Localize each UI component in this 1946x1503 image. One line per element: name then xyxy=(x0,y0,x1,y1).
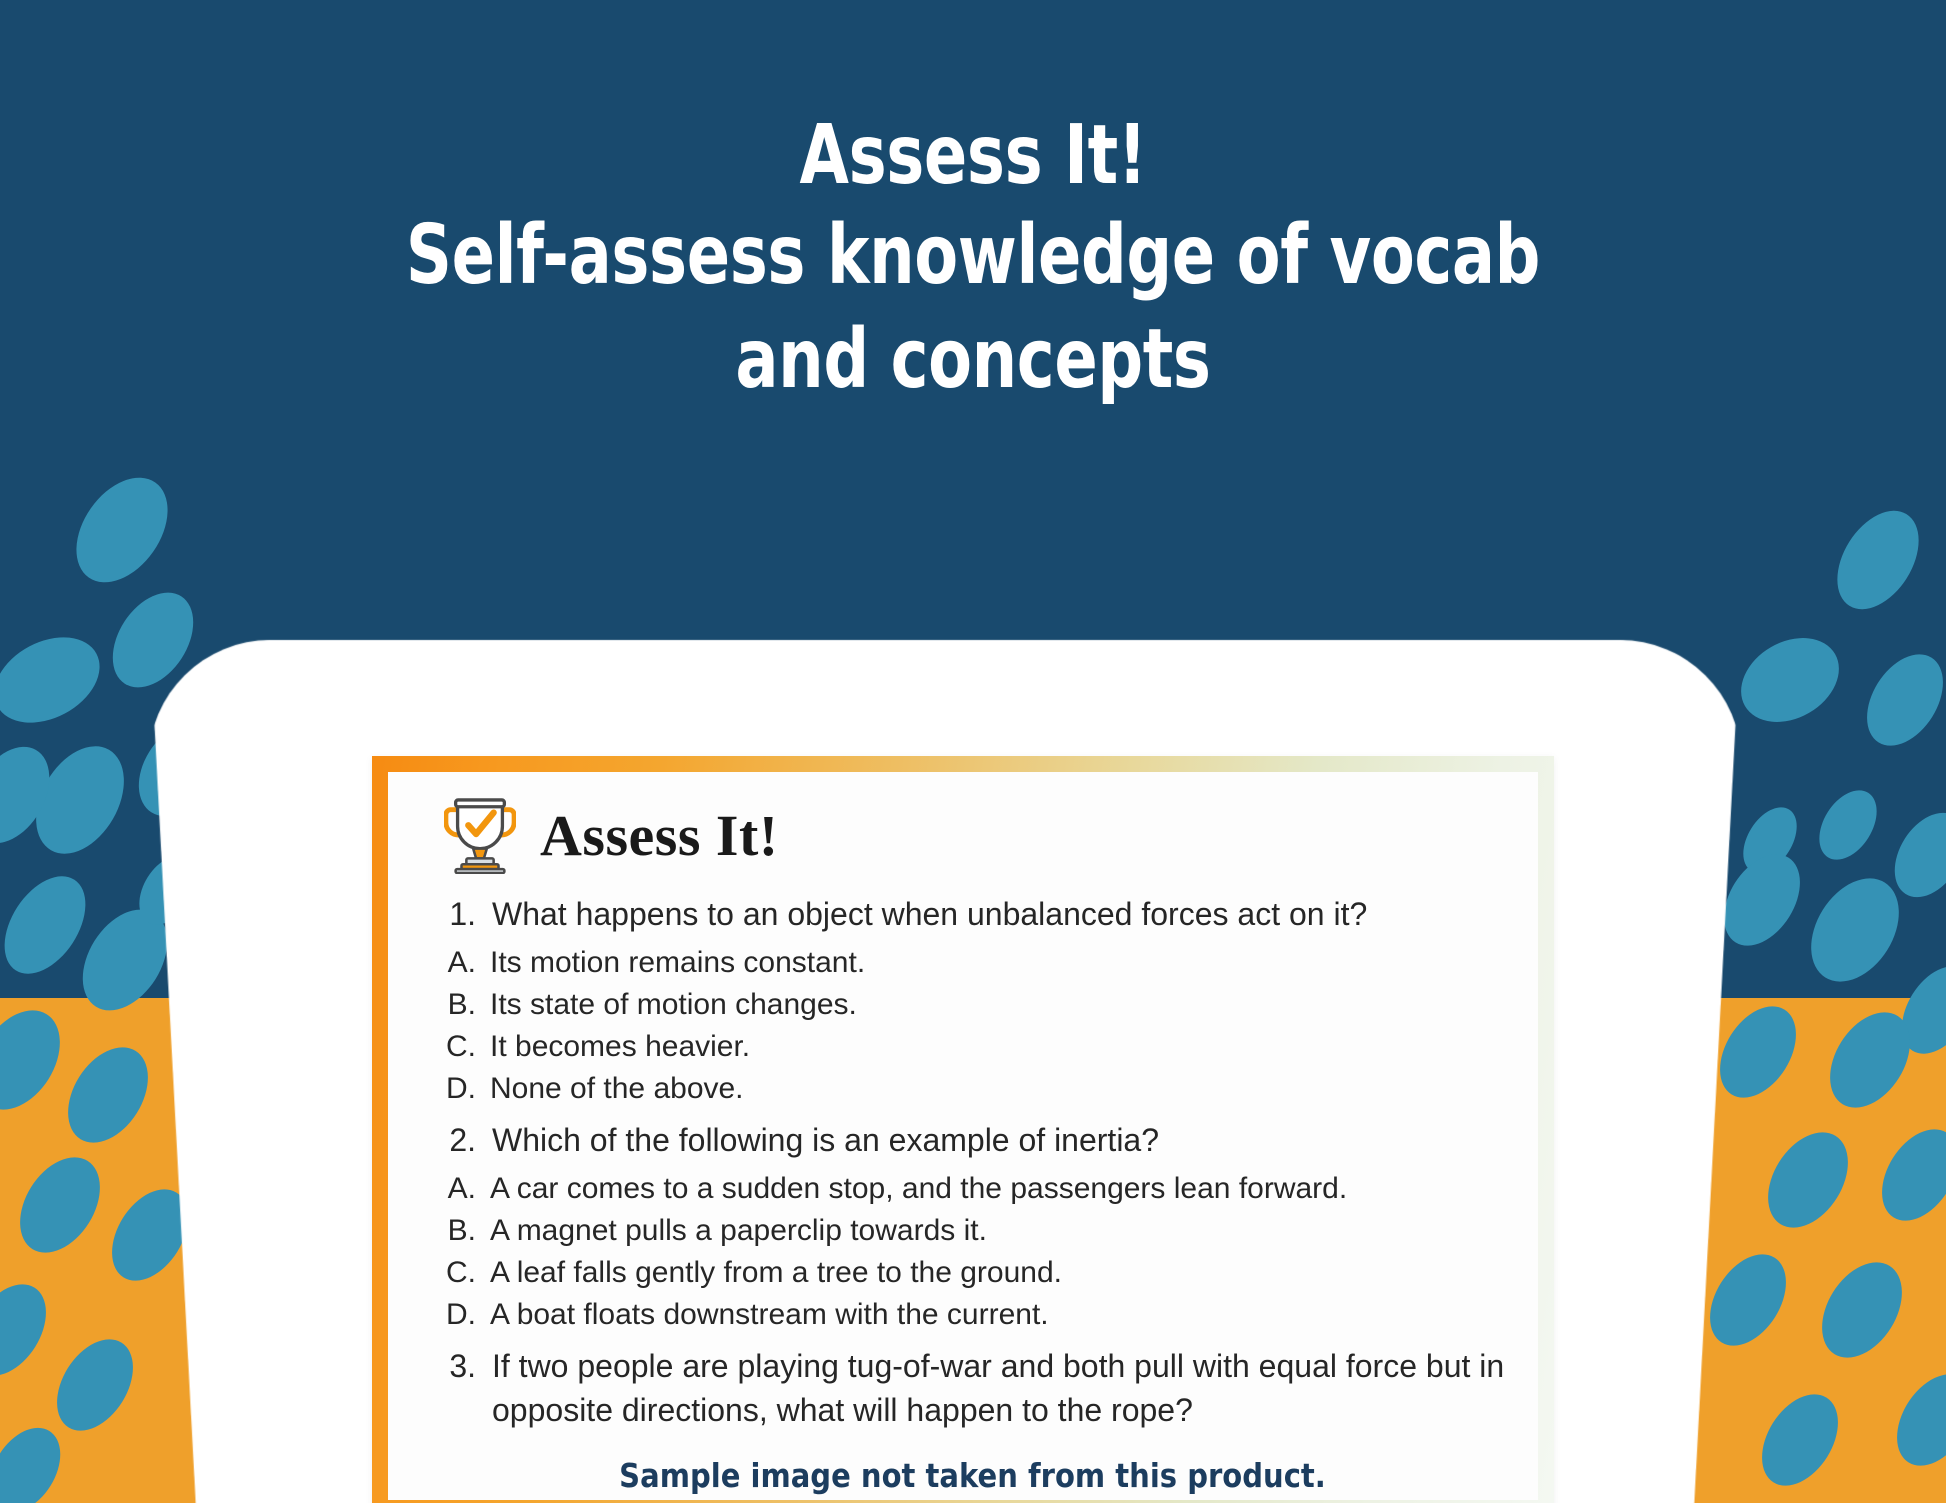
option-item: D. None of the above. xyxy=(418,1068,1508,1110)
question-text: If two people are playing tug-of-war and… xyxy=(492,1344,1508,1432)
option-letter: A. xyxy=(418,942,490,984)
option-item: B. A magnet pulls a paperclip towards it… xyxy=(418,1210,1508,1252)
option-item: C. A leaf falls gently from a tree to th… xyxy=(418,1252,1508,1294)
question-row: 1. What happens to an object when unbala… xyxy=(418,892,1508,936)
option-letter: D. xyxy=(418,1068,490,1110)
worksheet-card: Assess It! 1. What happens to an object … xyxy=(372,756,1554,1503)
sample-image-disclaimer-text: Sample image not taken from this product… xyxy=(620,1456,1327,1495)
option-letter: B. xyxy=(418,984,490,1026)
worksheet-title: Assess It! xyxy=(540,807,779,865)
option-item: A. A car comes to a sudden stop, and the… xyxy=(418,1168,1508,1210)
option-item: D. A boat floats downstream with the cur… xyxy=(418,1294,1508,1336)
question-text: Which of the following is an example of … xyxy=(492,1118,1508,1162)
question-number: 2. xyxy=(418,1118,492,1162)
option-letter: C. xyxy=(418,1026,490,1068)
worksheet-page: Assess It! 1. What happens to an object … xyxy=(388,772,1538,1500)
question-number: 1. xyxy=(418,892,492,936)
trophy-check-icon xyxy=(444,798,516,874)
option-list: A. Its motion remains constant. B. Its s… xyxy=(418,942,1508,1110)
question-item: 3. If two people are playing tug-of-war … xyxy=(418,1344,1508,1432)
option-text: A boat floats downstream with the curren… xyxy=(490,1294,1508,1336)
option-text: Its state of motion changes. xyxy=(490,984,1508,1026)
option-item: C. It becomes heavier. xyxy=(418,1026,1508,1068)
question-row: 2. Which of the following is an example … xyxy=(418,1118,1508,1162)
option-letter: B. xyxy=(418,1210,490,1252)
option-text: A car comes to a sudden stop, and the pa… xyxy=(490,1168,1508,1210)
question-item: 1. What happens to an object when unbala… xyxy=(418,892,1508,1110)
option-text: None of the above. xyxy=(490,1068,1508,1110)
option-text: Its motion remains constant. xyxy=(490,942,1508,984)
option-text: A magnet pulls a paperclip towards it. xyxy=(490,1210,1508,1252)
option-list: A. A car comes to a sudden stop, and the… xyxy=(418,1168,1508,1336)
option-item: A. Its motion remains constant. xyxy=(418,942,1508,984)
option-text: It becomes heavier. xyxy=(490,1026,1508,1068)
worksheet-header: Assess It! xyxy=(444,798,1508,874)
question-text: What happens to an object when unbalance… xyxy=(492,892,1508,936)
option-letter: C. xyxy=(418,1252,490,1294)
sample-image-disclaimer: Sample image not taken from this product… xyxy=(0,1456,1946,1495)
question-item: 2. Which of the following is an example … xyxy=(418,1118,1508,1336)
option-text: A leaf falls gently from a tree to the g… xyxy=(490,1252,1508,1294)
slide-canvas: Assess It! Self-assess knowledge of voca… xyxy=(0,0,1946,1503)
option-letter: D. xyxy=(418,1294,490,1336)
question-list: 1. What happens to an object when unbala… xyxy=(418,892,1508,1432)
question-row: 3. If two people are playing tug-of-war … xyxy=(418,1344,1508,1432)
option-letter: A. xyxy=(418,1168,490,1210)
question-number: 3. xyxy=(418,1344,492,1388)
option-item: B. Its state of motion changes. xyxy=(418,984,1508,1026)
